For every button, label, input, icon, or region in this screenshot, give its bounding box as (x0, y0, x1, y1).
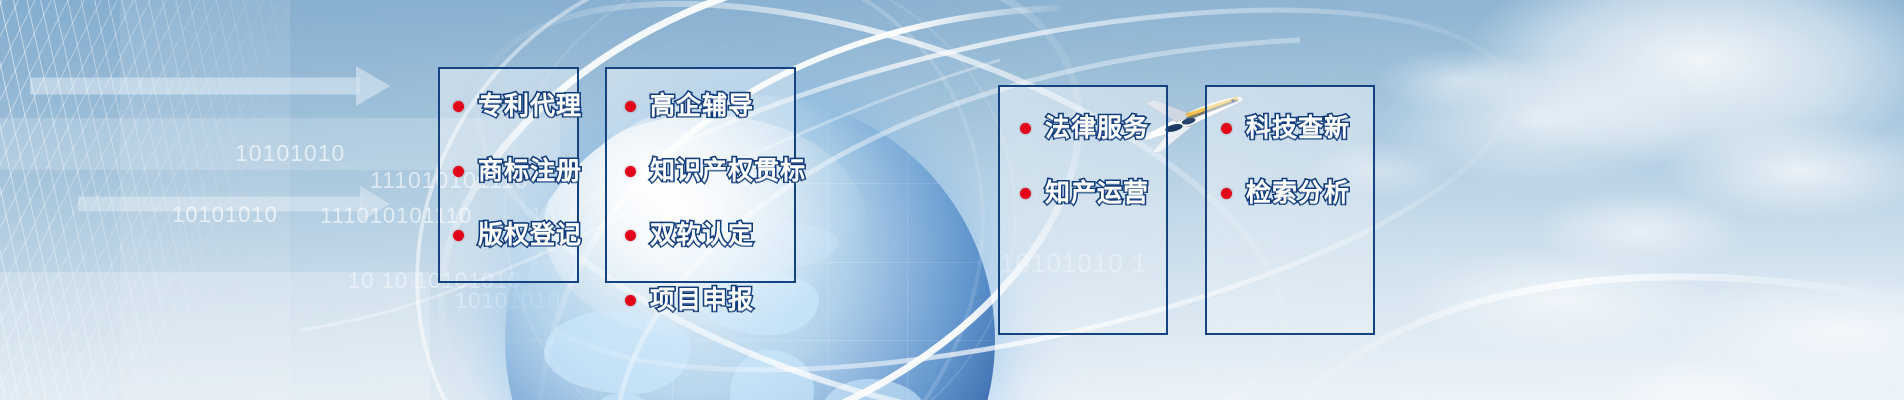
service-label: 知产运营 (1045, 180, 1149, 208)
list-item[interactable]: 法律服务 (1020, 115, 1166, 143)
bullet-dot-icon (625, 101, 636, 112)
list-item[interactable]: 科技查新 (1221, 115, 1373, 143)
background-pane (0, 272, 430, 400)
right-arrow-icon (30, 66, 390, 106)
service-label: 项目申报 (650, 287, 754, 315)
service-label: 高企辅导 (650, 93, 754, 121)
binary-text: 10101010 (172, 202, 278, 228)
bullet-dot-icon (453, 101, 464, 112)
list-item[interactable]: 检索分析 (1221, 180, 1373, 208)
service-list: 科技查新 检索分析 (1221, 115, 1373, 244)
bullet-dot-icon (1020, 123, 1031, 134)
list-item[interactable]: 双软认定 (625, 222, 794, 250)
list-item[interactable]: 专利代理 (453, 93, 577, 121)
list-item[interactable]: 知识产权贯标 (625, 158, 794, 186)
bullet-dot-icon (453, 230, 464, 241)
bullet-dot-icon (1221, 188, 1232, 199)
list-item[interactable]: 高企辅导 (625, 93, 794, 121)
service-label: 商标注册 (478, 158, 582, 186)
list-item[interactable]: 商标注册 (453, 158, 577, 186)
service-card-4[interactable]: 科技查新 检索分析 (1205, 85, 1375, 335)
service-card-2[interactable]: 高企辅导 知识产权贯标 双软认定 项目申报 (605, 67, 796, 283)
bullet-dot-icon (625, 166, 636, 177)
banner-root: 10101010 111010101110 10101010 111010101… (0, 0, 1904, 400)
architectural-grid-decoration (0, 0, 306, 400)
bullet-dot-icon (1221, 123, 1232, 134)
right-arrow-icon (78, 186, 390, 222)
orbit-swoosh-decoration (0, 0, 1904, 400)
list-item[interactable]: 知产运营 (1020, 180, 1166, 208)
binary-text: 10101010 (235, 140, 345, 167)
service-label: 版权登记 (478, 222, 582, 250)
list-item[interactable]: 版权登记 (453, 222, 577, 250)
list-item[interactable]: 项目申报 (625, 287, 794, 315)
service-list: 高企辅导 知识产权贯标 双软认定 项目申报 (625, 93, 794, 351)
background-pane (120, 0, 290, 400)
service-label: 知识产权贯标 (650, 158, 806, 186)
bullet-dot-icon (625, 295, 636, 306)
binary-text: 10101010 (455, 288, 561, 314)
service-card-3[interactable]: 法律服务 知产运营 (998, 85, 1168, 335)
arrow-shaft (30, 78, 360, 95)
sky-clouds-background (0, 0, 1904, 400)
bullet-dot-icon (453, 166, 464, 177)
bullet-dot-icon (625, 230, 636, 241)
service-label: 双软认定 (650, 222, 754, 250)
service-label: 法律服务 (1045, 115, 1149, 143)
service-label: 检索分析 (1246, 180, 1350, 208)
arrow-shaft (78, 197, 362, 212)
arrow-head (360, 186, 390, 222)
service-label: 专利代理 (478, 93, 582, 121)
service-label: 科技查新 (1246, 115, 1350, 143)
service-list: 专利代理 商标注册 版权登记 (453, 93, 577, 287)
service-card-1[interactable]: 专利代理 商标注册 版权登记 (438, 67, 579, 283)
service-list: 法律服务 知产运营 (1020, 115, 1166, 244)
bullet-dot-icon (1020, 188, 1031, 199)
arrow-head (356, 66, 390, 106)
